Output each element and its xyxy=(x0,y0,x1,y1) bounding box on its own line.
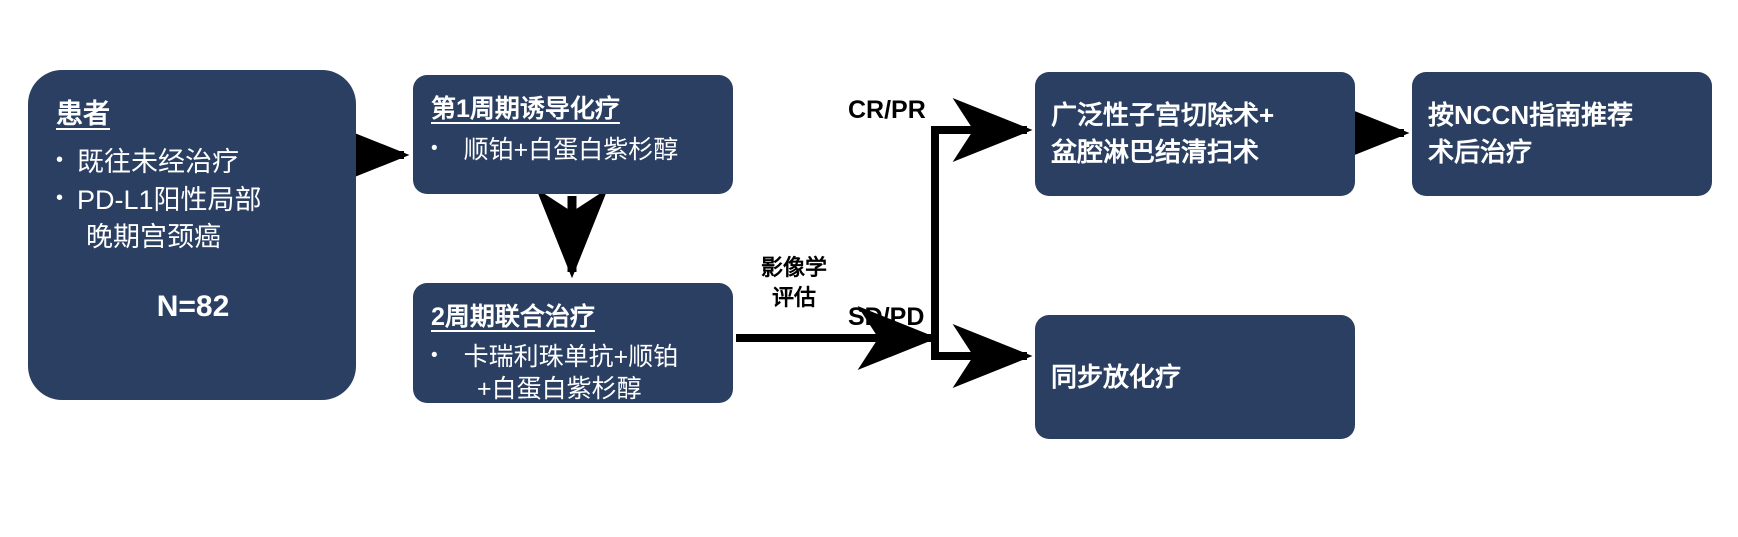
node-surgery-line-1: 广泛性子宫切除术+ xyxy=(1051,97,1341,134)
node-patients-bullet-1: • 既往未经治疗 xyxy=(56,145,330,181)
bullet-text: 顺铂+白蛋白紫杉醇 xyxy=(464,135,717,166)
node-cycle2-combination-therapy: 2周期联合治疗 • 卡瑞利珠单抗+顺铂 +白蛋白紫杉醇 xyxy=(413,283,733,403)
bullet-text: 既往未经治疗 xyxy=(77,145,330,181)
node-cycle1-bullet-1: • 顺铂+白蛋白紫杉醇 xyxy=(431,135,717,166)
node-surgery-line-2: 盆腔淋巴结清扫术 xyxy=(1051,134,1341,171)
node-cycle2-bullet-1-continuation: +白蛋白紫杉醇 xyxy=(431,374,717,406)
edge-label-sd-pd: SD/PD xyxy=(848,303,924,332)
edge-label-cr-pr: CR/PR xyxy=(848,96,926,125)
bullet-dot-icon: • xyxy=(56,150,63,170)
node-radical-hysterectomy: 广泛性子宫切除术+ 盆腔淋巴结清扫术 xyxy=(1035,72,1355,196)
node-nccn-line-2: 术后治疗 xyxy=(1428,134,1698,171)
node-cycle1-title: 第1周期诱导化疗 xyxy=(431,89,717,125)
node-patients: 患者 • 既往未经治疗 • PD-L1阳性局部 晚期宫颈癌 N=82 xyxy=(28,70,356,400)
node-cycle2-bullet-1: • 卡瑞利珠单抗+顺铂 xyxy=(431,342,717,374)
node-nccn-line-1: 按NCCN指南推荐 xyxy=(1428,97,1698,134)
bullet-dot-icon: • xyxy=(56,188,63,208)
edge-label-imaging-line-1: 影像学 xyxy=(752,253,836,283)
bullet-text: PD-L1阳性局部 xyxy=(77,183,330,219)
node-concurrent-chemoradiotherapy: 同步放化疗 xyxy=(1035,315,1355,439)
bullet-dot-icon: • xyxy=(431,139,438,158)
node-cycle2-title: 2周期联合治疗 xyxy=(431,297,717,333)
node-cycle1-induction-chemo: 第1周期诱导化疗 • 顺铂+白蛋白紫杉醇 xyxy=(413,75,733,194)
node-ccrt-line-1: 同步放化疗 xyxy=(1051,359,1341,396)
flowchart-canvas: 患者 • 既往未经治疗 • PD-L1阳性局部 晚期宫颈癌 N=82 第1周期诱… xyxy=(0,0,1738,537)
edge-label-imaging-line-2: 评估 xyxy=(752,283,836,313)
edge-label-imaging-assessment: 影像学 评估 xyxy=(752,253,836,314)
bullet-text: 卡瑞利珠单抗+顺铂 xyxy=(464,342,717,374)
node-patients-bullet-2-continuation: 晚期宫颈癌 xyxy=(56,220,330,256)
bullet-dot-icon: • xyxy=(431,346,438,365)
node-nccn-adjuvant-therapy: 按NCCN指南推荐 术后治疗 xyxy=(1412,72,1712,196)
node-patients-title: 患者 xyxy=(56,92,330,131)
node-patients-bullet-2: • PD-L1阳性局部 xyxy=(56,183,330,219)
node-patients-sample-size: N=82 xyxy=(56,290,330,324)
